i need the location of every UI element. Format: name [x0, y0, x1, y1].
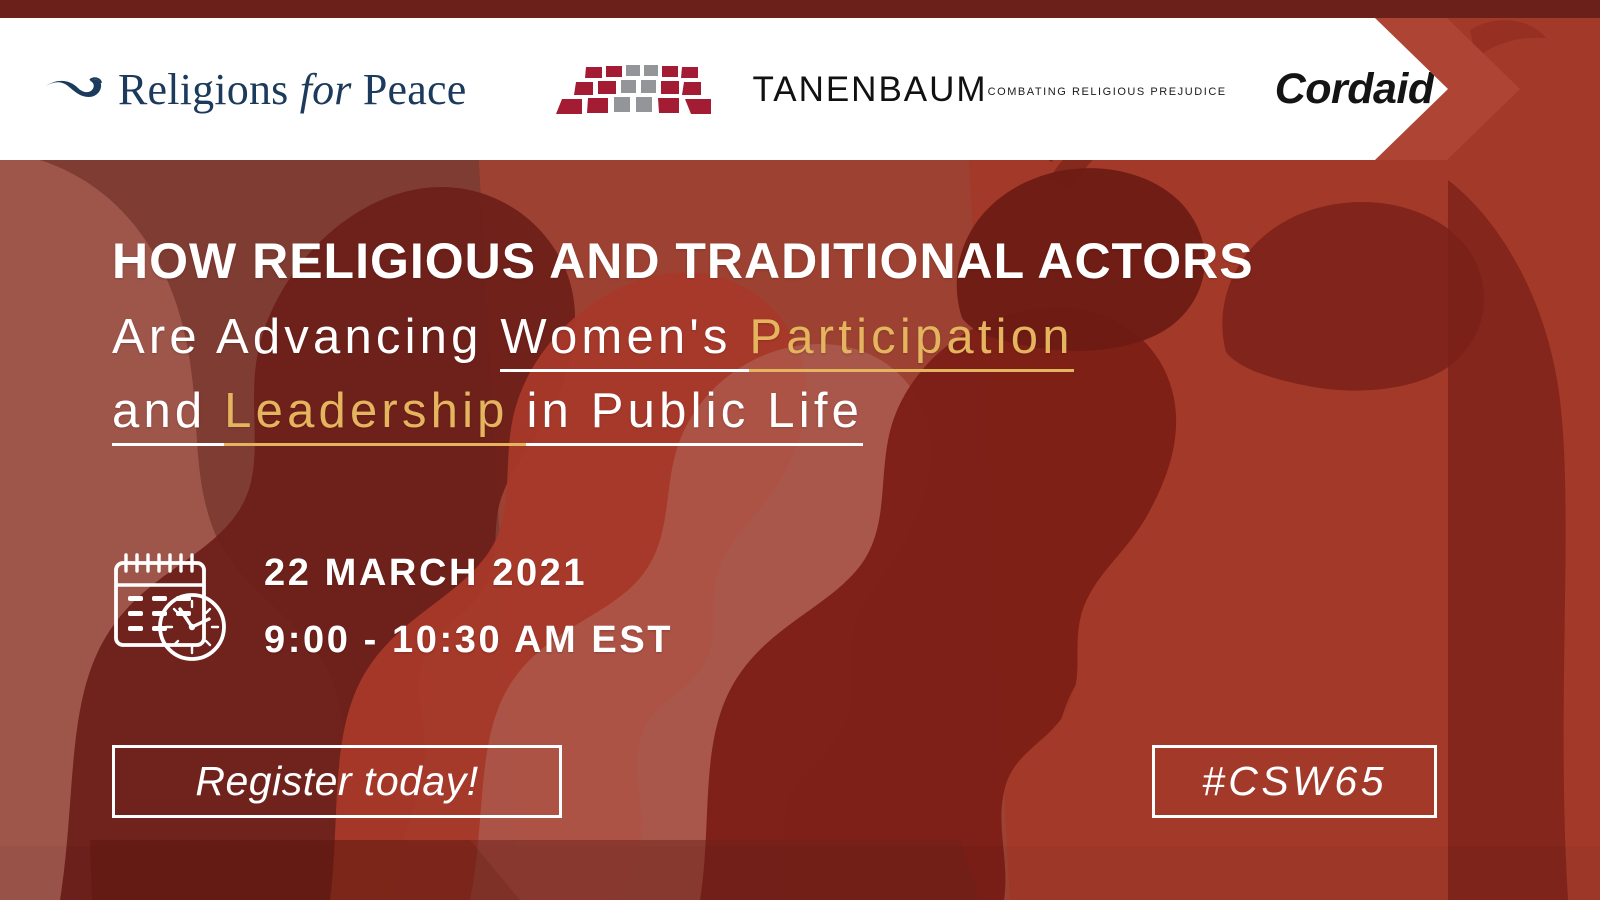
subtitle-line-1: Are Advancing Women's Participation — [112, 309, 1074, 365]
register-button[interactable]: Register today! — [112, 745, 562, 818]
event-datetime-block: 22 MARCH 2021 9:00 - 10:30 AM EST — [110, 540, 673, 673]
subtitle-seg-participation: Participation — [749, 310, 1073, 372]
event-date: 22 MARCH 2021 — [264, 540, 673, 607]
hashtag-badge: #CSW65 — [1152, 745, 1437, 818]
page-title: HOW RELIGIOUS AND TRADITIONAL ACTORS — [112, 232, 1254, 290]
event-datetime-text: 22 MARCH 2021 9:00 - 10:30 AM EST — [264, 540, 673, 673]
event-promo-poster: Religions for Peace — [0, 0, 1600, 900]
subtitle-seg-womens: Women's — [500, 310, 749, 372]
subtitle-seg-and: and — [112, 384, 224, 446]
calendar-clock-icon — [110, 551, 232, 663]
event-time: 9:00 - 10:30 AM EST — [264, 607, 673, 674]
subtitle-line-2: and Leadership in Public Life — [112, 383, 863, 439]
subtitle-seg-advancing: Are Advancing — [112, 310, 500, 364]
subtitle-seg-leadership: Leadership — [224, 384, 526, 446]
poster-content: HOW RELIGIOUS AND TRADITIONAL ACTORS Are… — [0, 0, 1600, 900]
subtitle-seg-public-life: in Public Life — [526, 384, 863, 446]
